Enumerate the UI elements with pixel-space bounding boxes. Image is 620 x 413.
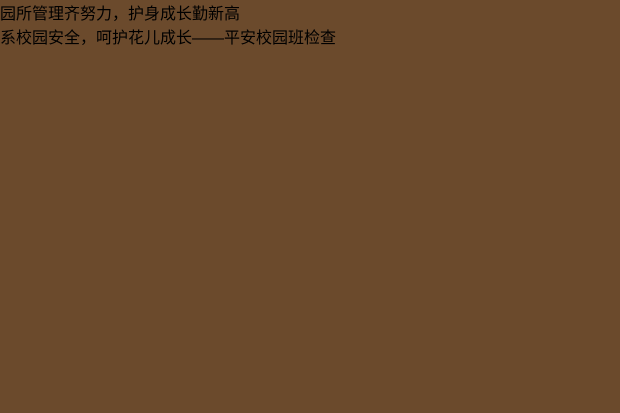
hair-side-strand: [0, 396, 20, 413]
photograph-scene: 园所管理齐努力，护身成长勤新高 系校园安全，呵护花儿成长——平安校园班检查: [0, 0, 620, 413]
